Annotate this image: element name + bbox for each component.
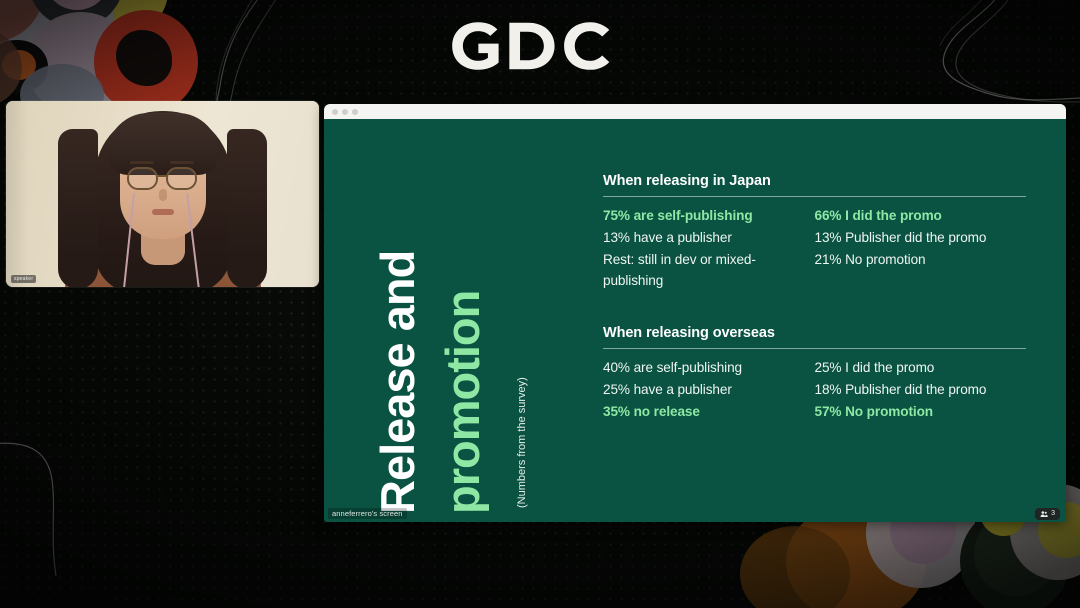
speaker-eyebrow-left	[130, 161, 154, 164]
speaker-hair-right	[227, 129, 267, 287]
speaker-mouth	[152, 209, 174, 215]
gdc-logo	[0, 21, 1080, 73]
window-maximize-icon[interactable]	[352, 109, 358, 115]
eyeglasses-right-lens	[166, 167, 197, 190]
section-left-column: 75% are self-publishing 13% have a publi…	[603, 205, 815, 292]
stat-row: 13% have a publisher	[603, 227, 807, 249]
stat-row: 35% no release	[603, 401, 807, 423]
slide-title-block: Release and promotion (Numbers from the …	[358, 119, 548, 522]
share-source-label: anneferrero's screen	[328, 508, 407, 519]
stat-row: 75% are self-publishing	[603, 205, 807, 227]
section-right-column: 66% I did the promo 13% Publisher did th…	[815, 205, 1027, 292]
presentation-slide: Release and promotion (Numbers from the …	[324, 119, 1066, 522]
stat-row: 21% No promotion	[815, 249, 1019, 271]
window-title-bar[interactable]	[324, 104, 1066, 119]
speaker-nose	[159, 189, 167, 201]
webcam-name-label: speaker	[11, 275, 36, 283]
participant-count-badge[interactable]: 3	[1035, 508, 1060, 520]
stat-row: 25% I did the promo	[815, 357, 1019, 379]
speaker-hair-left	[58, 129, 98, 287]
people-icon	[1040, 510, 1048, 518]
slide-title-line-1: Release and	[374, 251, 421, 514]
shared-screen-window[interactable]: Release and promotion (Numbers from the …	[324, 104, 1066, 522]
stat-row: 40% are self-publishing	[603, 357, 807, 379]
stat-row: 57% No promotion	[815, 401, 1019, 423]
stat-row: 66% I did the promo	[815, 205, 1019, 227]
section-right-column: 25% I did the promo 18% Publisher did th…	[815, 357, 1027, 422]
section-heading: When releasing overseas	[603, 325, 1026, 341]
section-left-column: 40% are self-publishing 25% have a publi…	[603, 357, 815, 422]
slide-title-line-2: promotion	[439, 291, 486, 514]
section-divider	[603, 348, 1026, 349]
stat-row: Rest: still in dev or mixed-	[603, 249, 807, 271]
stat-row: 18% Publisher did the promo	[815, 379, 1019, 401]
slide-subtitle: (Numbers from the survey)	[517, 377, 528, 508]
section-releasing-in-japan: When releasing in Japan 75% are self-pub…	[603, 173, 1026, 292]
webcam-video-tile[interactable]: speaker	[6, 101, 319, 287]
section-divider	[603, 196, 1026, 197]
speaker-eyebrow-right	[170, 161, 194, 164]
share-footer-bar: anneferrero's screen 3	[324, 505, 1066, 522]
stat-row: publishing	[603, 270, 807, 292]
speaker-hair-top	[107, 113, 219, 175]
window-close-icon[interactable]	[332, 109, 338, 115]
section-heading: When releasing in Japan	[603, 173, 1026, 189]
slide-content: When releasing in Japan 75% are self-pub…	[603, 173, 1026, 422]
section-releasing-overseas: When releasing overseas 40% are self-pub…	[603, 325, 1026, 422]
eyeglasses-left-lens	[127, 167, 158, 190]
eyeglasses-bridge	[158, 175, 167, 177]
stat-row: 25% have a publisher	[603, 379, 807, 401]
stat-row: 13% Publisher did the promo	[815, 227, 1019, 249]
participant-count: 3	[1051, 510, 1055, 517]
window-minimize-icon[interactable]	[342, 109, 348, 115]
